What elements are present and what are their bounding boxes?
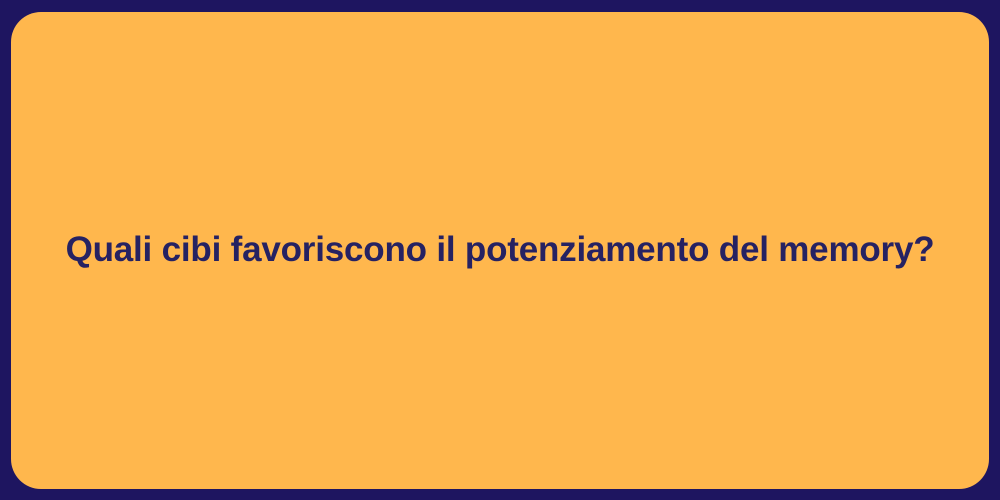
headline-text: Quali cibi favoriscono il potenziamento … [26,230,975,270]
banner-card: Quali cibi favoriscono il potenziamento … [11,12,989,489]
banner-root: Quali cibi favoriscono il potenziamento … [0,0,1000,500]
